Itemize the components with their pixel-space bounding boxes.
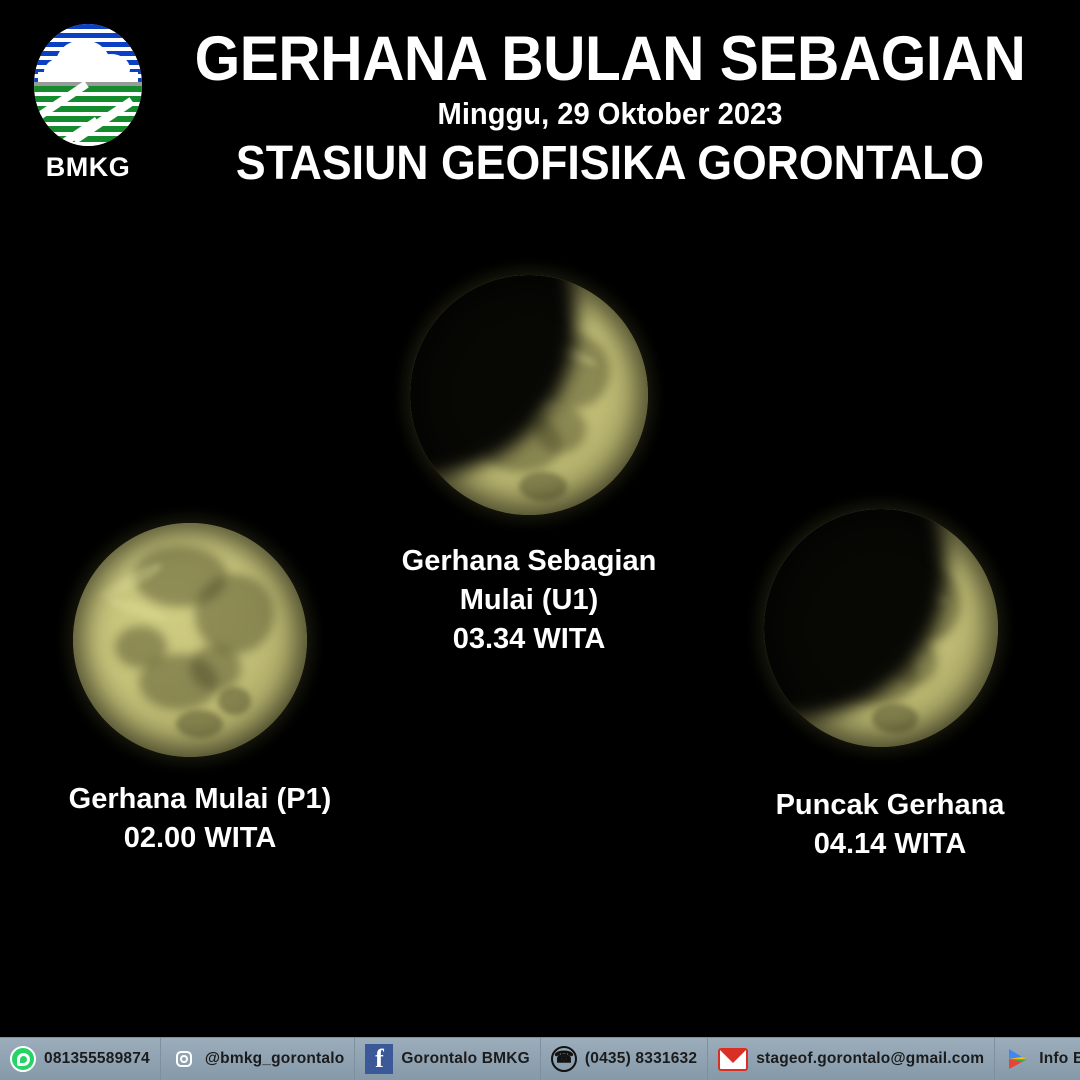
whatsapp-icon: [10, 1046, 36, 1072]
caption-partial-begin: Gerhana Sebagian Mulai (U1) 03.34 WITA: [339, 542, 719, 659]
facebook-page: Gorontalo BMKG: [401, 1050, 530, 1068]
bmkg-logo-label: BMKG: [28, 152, 148, 183]
footer-contact-phone[interactable]: (0435) 8331632: [541, 1038, 708, 1080]
page-title: GERHANA BULAN SEBAGIAN: [192, 26, 1029, 92]
footer-contact-email[interactable]: stageof.gorontalo@gmail.com: [708, 1038, 995, 1080]
maximum-eclipse-moon-image: [764, 509, 998, 747]
station-subtitle: STASIUN GEOFISIKA GORONTALO: [192, 136, 1029, 192]
footer-contact-playstore[interactable]: Info BMKG: [995, 1038, 1080, 1080]
caption-maximum: Puncak Gerhana 04.14 WITA: [700, 786, 1080, 864]
phone-number: (0435) 8331632: [585, 1050, 697, 1068]
event-date: Minggu, 29 Oktober 2023: [187, 92, 1033, 136]
bmkg-logo-block: BMKG: [28, 24, 148, 183]
footer-contact-instagram[interactable]: @bmkg_gorontalo: [161, 1038, 356, 1080]
title-block: GERHANA BULAN SEBAGIAN Minggu, 29 Oktobe…: [160, 26, 1060, 192]
email-address: stageof.gorontalo@gmail.com: [756, 1050, 984, 1068]
playstore-icon: [1005, 1046, 1031, 1072]
eclipse-infographic-poster: BMKG GERHANA BULAN SEBAGIAN Minggu, 29 O…: [0, 0, 1080, 1080]
instagram-icon: [171, 1046, 197, 1072]
partially-eclipsed-moon-image: [410, 275, 648, 515]
logo-land-stripes: [34, 86, 142, 146]
full-moon-image: [73, 523, 307, 757]
poster-header: BMKG GERHANA BULAN SEBAGIAN Minggu, 29 O…: [0, 0, 1080, 210]
playstore-app-name: Info BMKG: [1039, 1050, 1080, 1068]
phone-icon: [551, 1046, 577, 1072]
contact-footer-bar: 081355589874 @bmkg_gorontalo Gorontalo B…: [0, 1037, 1080, 1080]
footer-contact-facebook[interactable]: Gorontalo BMKG: [355, 1038, 541, 1080]
footer-contact-whatsapp[interactable]: 081355589874: [0, 1038, 161, 1080]
bmkg-logo-icon: [34, 24, 142, 146]
caption-eclipse-begin: Gerhana Mulai (P1) 02.00 WITA: [10, 780, 390, 858]
gmail-icon: [718, 1048, 748, 1071]
whatsapp-number: 081355589874: [44, 1050, 150, 1068]
instagram-handle: @bmkg_gorontalo: [205, 1050, 345, 1068]
facebook-icon: [365, 1044, 393, 1074]
